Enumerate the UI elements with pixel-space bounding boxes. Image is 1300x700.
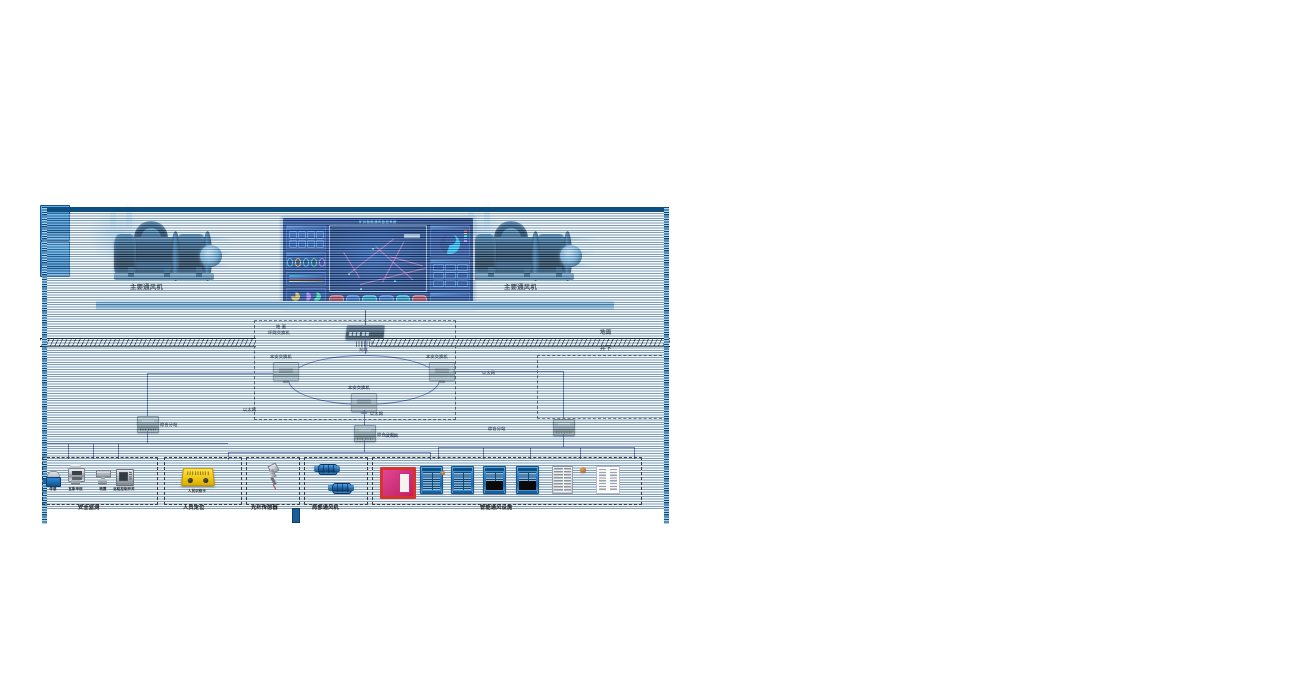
personnel-id-card-icon[interactable] [181,468,215,486]
sprayer-icon[interactable] [96,470,109,485]
group-label-safety-monitoring: 安全监测 [78,506,100,512]
diagram-canvas: 主要通风机 主要通风机 矿井智能通风监控系统 [0,0,1300,700]
sensor-icon[interactable] [46,471,59,485]
air-door-red-icon[interactable] [380,467,416,499]
fiber-optic-sensor-icon[interactable] [266,464,278,490]
group-label-personnel-positioning: 人员定位 [183,506,205,512]
group-label-fiber-optic-sensor: 光纤传感器 [251,506,278,512]
air-cabinet-2-icon[interactable] [451,466,474,494]
air-grill-1-icon[interactable] [552,466,573,494]
air-cabinet-3-icon[interactable] [483,466,506,494]
group-label-local-ventilator: 局部通风机 [312,506,339,512]
mine-ventilation-diagram: 主要通风机 主要通风机 矿井智能通风监控系统 [40,205,670,525]
local-fan-2-icon[interactable] [328,482,354,493]
remote-control-switch-icon[interactable] [116,469,134,486]
device-label-sensor: 传感 [43,488,63,492]
device-label-id-card: 人员识别卡 [176,490,218,494]
local-fan-1-icon[interactable] [314,463,340,474]
methane-detector-icon[interactable] [68,465,83,485]
ball-valve-icon [580,467,586,473]
device-label-remote-switch: 远程控制开关 [109,488,139,492]
air-cabinet-4-icon[interactable] [516,466,539,494]
group-label-intelligent-ventilation: 智能通风设施 [480,506,512,512]
air-grill-2-icon[interactable] [596,466,620,494]
air-cabinet-1-icon[interactable] [420,466,443,494]
device-label-methane: 瓦斯甲烷 [62,488,89,492]
